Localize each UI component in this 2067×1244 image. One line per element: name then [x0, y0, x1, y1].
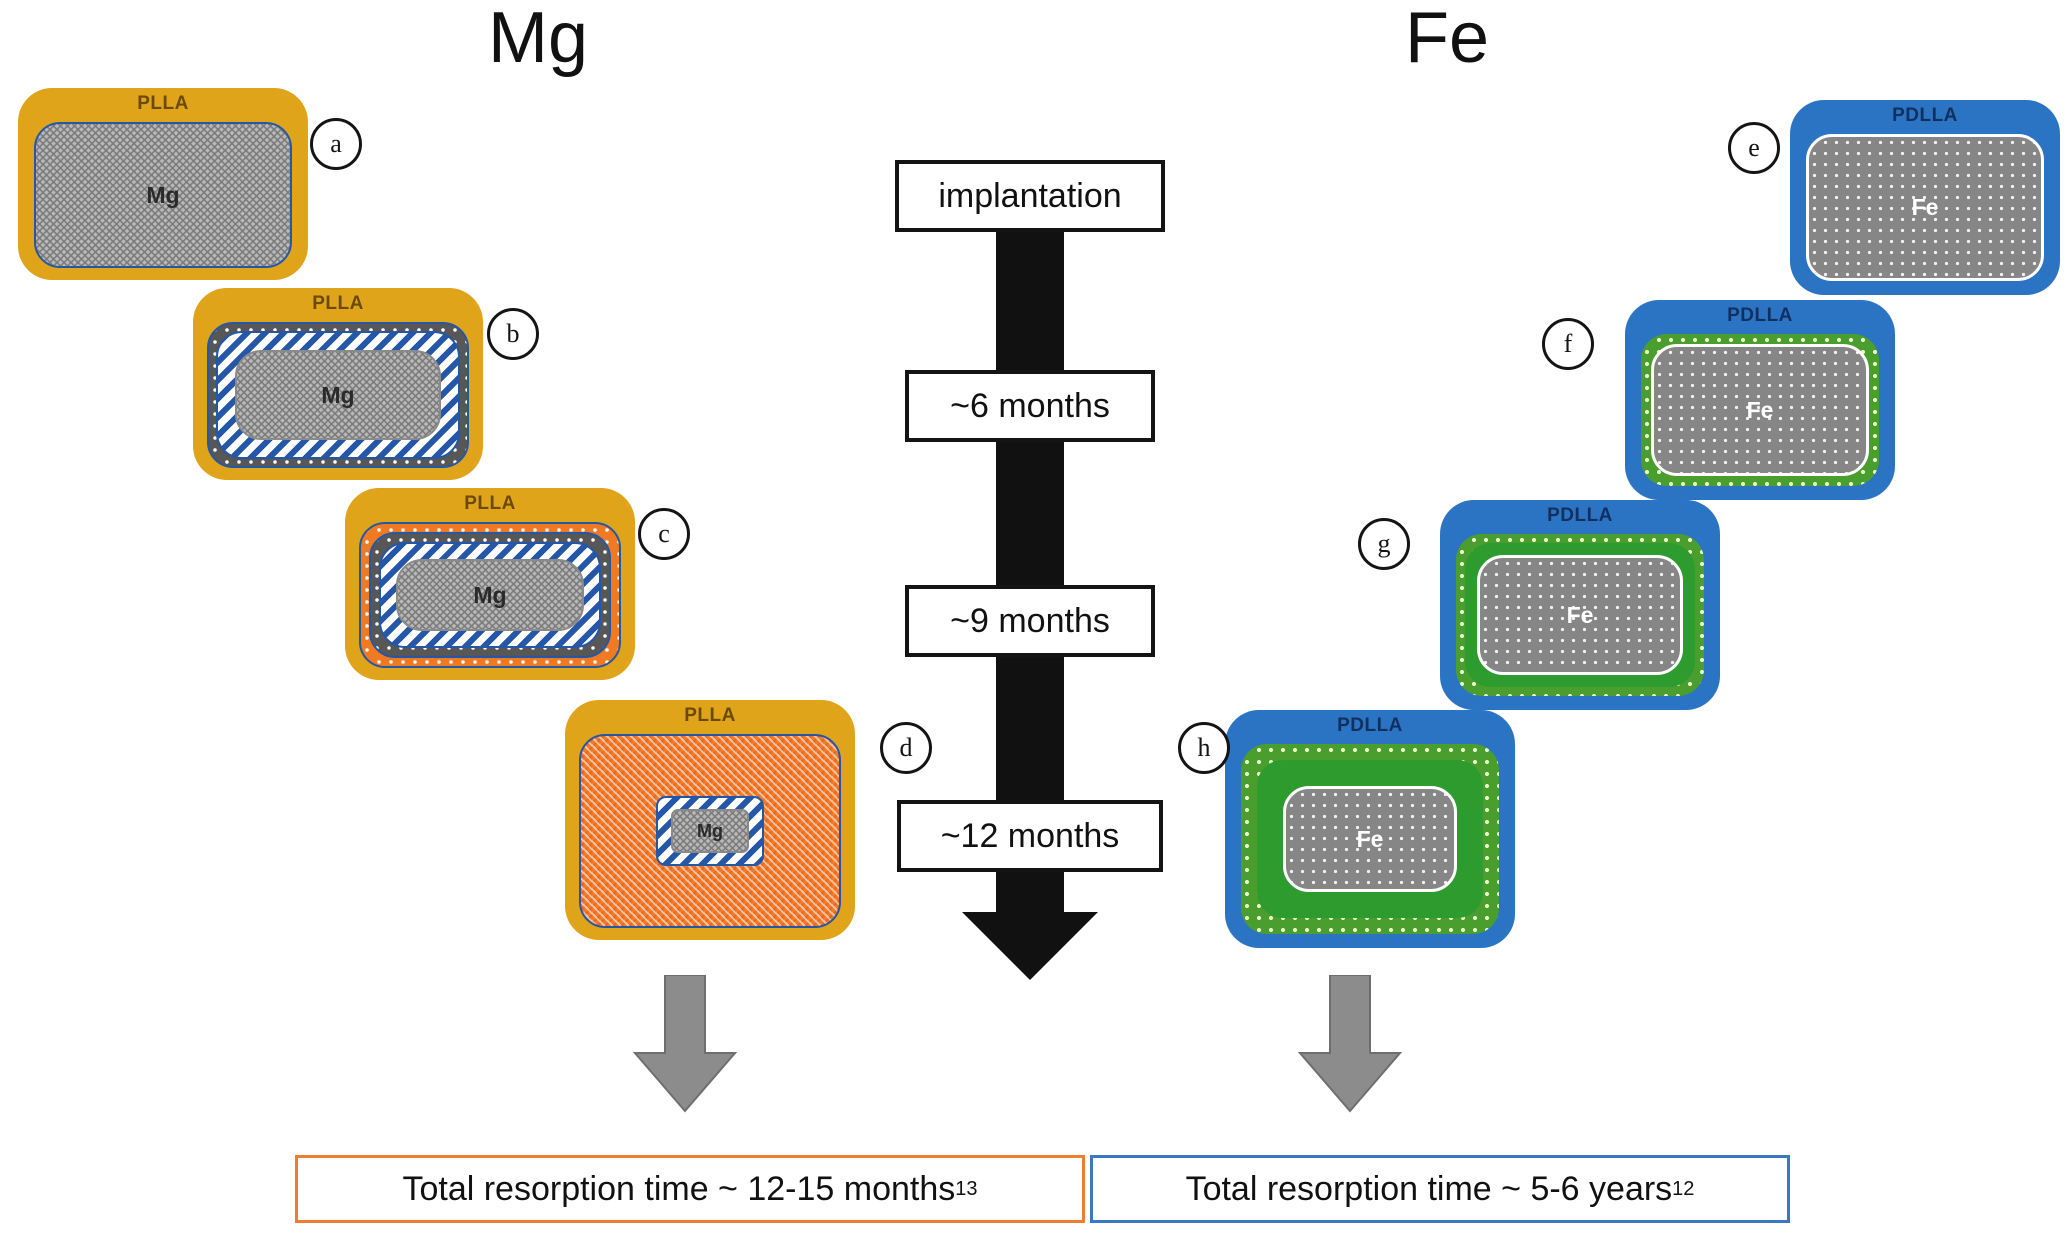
fe-panel-f-layer-label: PDLLA [1625, 305, 1895, 327]
mg-resorption-caption-ref: 13 [955, 1178, 977, 1201]
fe-panel-h-core: Fe [1283, 786, 1457, 892]
panel-tag-f[interactable]: f [1542, 318, 1594, 370]
mg-resorption-caption-text: Total resorption time ~ 12-15 months [402, 1170, 955, 1209]
panel-tag-d[interactable]: d [880, 722, 932, 774]
mg-panel-d-layer-label: PLLA [565, 705, 855, 727]
mg-panel-b-layer-label: PLLA [193, 293, 483, 315]
mg-panel-c-layer-blue-striped: Mg [379, 542, 601, 648]
fe-panel-f-core-label: Fe [1747, 397, 1774, 424]
mg-panel-d-core-label: Mg [697, 821, 723, 842]
fe-resorption-caption-text: Total resorption time ~ 5-6 years [1186, 1170, 1673, 1209]
mg-panel-a-core-label: Mg [146, 182, 179, 209]
panel-tag-e[interactable]: e [1728, 122, 1780, 174]
column-header-fe: Fe [1405, 2, 1489, 74]
panel-tag-c[interactable]: c [638, 508, 690, 560]
fe-panel-h-layer-green-dotted: Fe [1241, 744, 1499, 934]
fe-panel-h-core-label: Fe [1357, 826, 1384, 853]
panel-tag-g[interactable]: g [1358, 518, 1410, 570]
fe-resorption-caption-ref: 12 [1672, 1178, 1694, 1201]
mg-panel-a-layer-label: PLLA [18, 93, 308, 115]
fe-panel-f-core: Fe [1651, 344, 1869, 476]
fe-panel-g[interactable]: PDLLA Fe [1440, 500, 1720, 710]
mg-panel-b-core: Mg [235, 350, 441, 440]
mg-panel-d[interactable]: PLLA Mg [565, 700, 855, 940]
timeline-step-12-months[interactable]: ~12 months [897, 800, 1163, 872]
fe-panel-f-layer-green-dotted: Fe [1641, 334, 1879, 486]
mg-panel-c-core-label: Mg [473, 582, 506, 609]
mg-panel-c-layer-dark-dotted: Mg [369, 532, 611, 658]
fe-panel-g-core-label: Fe [1567, 602, 1594, 629]
fe-panel-e[interactable]: PDLLA Fe [1790, 100, 2060, 295]
fe-panel-e-core-label: Fe [1912, 194, 1939, 221]
panel-tag-b[interactable]: b [487, 308, 539, 360]
mg-panel-c-layer-label: PLLA [345, 493, 635, 515]
mg-result-arrow [625, 975, 745, 1115]
timeline-step-implantation[interactable]: implantation [895, 160, 1165, 232]
mg-panel-c[interactable]: PLLA Mg [345, 488, 635, 680]
fe-resorption-caption: Total resorption time ~ 5-6 years12 [1090, 1155, 1790, 1223]
mg-panel-c-core: Mg [396, 559, 584, 631]
fe-panel-f[interactable]: PDLLA Fe [1625, 300, 1895, 500]
fe-panel-g-core: Fe [1477, 555, 1683, 675]
fe-panel-h-layer-green-solid: Fe [1257, 760, 1483, 918]
mg-panel-c-layer-orange-dotted: Mg [359, 522, 621, 668]
timeline-arrowhead [962, 912, 1098, 980]
panel-tag-a[interactable]: a [310, 118, 362, 170]
panel-tag-h[interactable]: h [1178, 722, 1230, 774]
timeline-step-6-months[interactable]: ~6 months [905, 370, 1155, 442]
mg-panel-a[interactable]: PLLA Mg [18, 88, 308, 280]
mg-panel-d-layer-blue-striped: Mg [656, 796, 764, 866]
mg-panel-a-core: Mg [34, 122, 292, 268]
mg-panel-d-core: Mg [671, 809, 749, 853]
mg-panel-d-layer-orange-hatched: Mg [579, 734, 841, 928]
fe-panel-g-layer-green-solid: Fe [1465, 543, 1695, 687]
mg-panel-b[interactable]: PLLA Mg [193, 288, 483, 480]
fe-result-arrow [1290, 975, 1410, 1115]
mg-resorption-caption: Total resorption time ~ 12-15 months13 [295, 1155, 1085, 1223]
mg-panel-b-core-label: Mg [321, 382, 354, 409]
mg-panel-b-layer-dark-dotted: Mg [207, 322, 469, 468]
fe-panel-g-layer-green-dotted: Fe [1456, 534, 1704, 696]
mg-panel-b-layer-blue-striped: Mg [216, 331, 460, 459]
fe-panel-g-layer-label: PDLLA [1440, 505, 1720, 527]
fe-panel-h-layer-label: PDLLA [1225, 715, 1515, 737]
fe-panel-h[interactable]: PDLLA Fe [1225, 710, 1515, 948]
column-header-mg: Mg [488, 2, 588, 74]
figure-canvas: Mg Fe PLLA Mg a PLLA Mg b PLLA Mg [0, 0, 2067, 1244]
fe-panel-e-core: Fe [1806, 134, 2044, 281]
timeline-step-9-months[interactable]: ~9 months [905, 585, 1155, 657]
fe-panel-e-layer-label: PDLLA [1790, 105, 2060, 127]
